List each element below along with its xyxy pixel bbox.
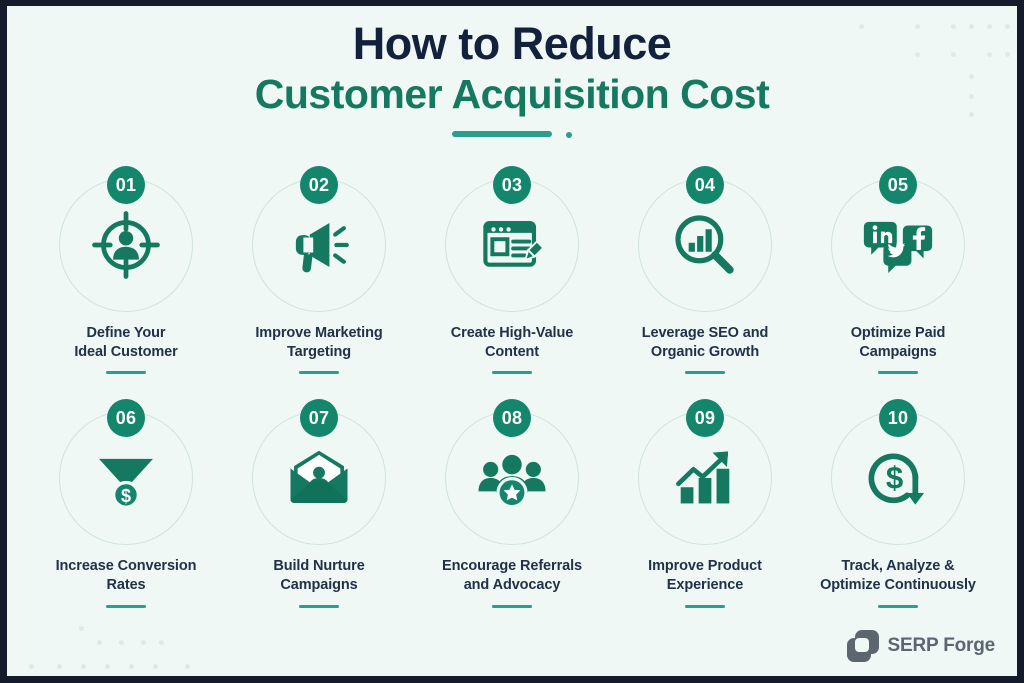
step-number-badge: 04	[686, 166, 724, 204]
step-icon-wrap: 08	[442, 399, 582, 547]
step-icon-wrap: $ 10	[828, 399, 968, 547]
step-underline	[492, 605, 532, 608]
poster-canvas: How to Reduce Customer Acquisition Cost	[7, 6, 1017, 676]
steps-grid: 01 Define Your Ideal Customer	[33, 166, 991, 608]
social-bubbles-icon	[859, 206, 937, 284]
step-card-01[interactable]: 01 Define Your Ideal Customer	[33, 166, 219, 374]
megaphone-icon	[282, 208, 356, 282]
step-underline	[878, 371, 918, 374]
steps-row-1: 01 Define Your Ideal Customer	[33, 166, 991, 374]
step-label: Improve Marketing Targeting	[255, 324, 382, 362]
people-star-icon	[473, 439, 551, 517]
target-person-icon	[90, 209, 162, 281]
title-divider-dot	[566, 132, 572, 138]
growth-chart-arrow-icon	[668, 441, 742, 515]
step-icon-wrap: 03	[442, 166, 582, 314]
logo-square-cutout	[855, 638, 869, 652]
title-divider-bar	[452, 131, 552, 137]
step-icon-wrap: 05	[828, 166, 968, 314]
step-icon-wrap: 01	[56, 166, 196, 314]
magnifier-bar-chart-icon	[669, 209, 741, 281]
step-card-07[interactable]: 07 Build Nurture Campaigns	[226, 399, 412, 607]
browser-pencil-icon	[475, 208, 549, 282]
svg-text:$: $	[886, 461, 903, 496]
step-underline	[685, 371, 725, 374]
step-number-badge: 02	[300, 166, 338, 204]
step-icon-wrap: 09	[635, 399, 775, 547]
page-title-line-2: Customer Acquisition Cost	[7, 71, 1017, 119]
step-card-08[interactable]: 08 Encourage Referrals and Advocacy	[419, 399, 605, 607]
title-divider	[452, 131, 572, 138]
step-label: Optimize Paid Campaigns	[851, 324, 946, 362]
step-label: Encourage Referrals and Advocacy	[442, 557, 582, 595]
step-card-06[interactable]: $ 06 Increase Conversion Rates	[33, 399, 219, 607]
step-underline	[492, 371, 532, 374]
step-number-badge: 07	[300, 399, 338, 437]
step-underline	[106, 371, 146, 374]
step-card-10[interactable]: $ 10 Track, Analyze & Optimize Continuou…	[805, 399, 991, 607]
step-label: Build Nurture Campaigns	[273, 557, 364, 595]
funnel-dollar-icon: $	[90, 442, 162, 514]
step-underline	[299, 605, 339, 608]
step-underline	[878, 605, 918, 608]
step-card-05[interactable]: 05 Optimize Paid Campaigns	[805, 166, 991, 374]
step-label: Define Your Ideal Customer	[74, 324, 177, 362]
step-label: Increase Conversion Rates	[56, 557, 197, 595]
svg-text:$: $	[121, 486, 131, 506]
serp-forge-logo-icon	[847, 630, 879, 662]
dollar-refresh-down-icon: $	[861, 441, 935, 515]
poster-frame: How to Reduce Customer Acquisition Cost	[0, 0, 1024, 683]
step-underline	[685, 605, 725, 608]
step-icon-wrap: $ 06	[56, 399, 196, 547]
step-number-badge: 03	[493, 166, 531, 204]
decorative-dots-bottom-left	[19, 606, 189, 676]
poster-header: How to Reduce Customer Acquisition Cost	[7, 20, 1017, 138]
step-underline	[106, 605, 146, 608]
steps-row-2: $ 06 Increase Conversion Rates	[33, 399, 991, 607]
step-number-badge: 08	[493, 399, 531, 437]
step-card-04[interactable]: 04 Leverage SEO and Organic Growth	[612, 166, 798, 374]
step-label: Track, Analyze & Optimize Continuously	[820, 557, 976, 595]
step-number-badge: 05	[879, 166, 917, 204]
step-icon-wrap: 02	[249, 166, 389, 314]
brand-name: SERP Forge	[888, 635, 995, 657]
step-card-09[interactable]: 09 Improve Product Experience	[612, 399, 798, 607]
step-number-badge: 06	[107, 399, 145, 437]
step-underline	[299, 371, 339, 374]
page-title-line-1: How to Reduce	[7, 20, 1017, 69]
step-card-03[interactable]: 03 Create High-Value Content	[419, 166, 605, 374]
envelope-person-icon	[281, 440, 357, 516]
step-number-badge: 01	[107, 166, 145, 204]
step-icon-wrap: 07	[249, 399, 389, 547]
step-label: Leverage SEO and Organic Growth	[642, 324, 769, 362]
step-label: Create High-Value Content	[451, 324, 573, 362]
step-card-02[interactable]: 02 Improve Marketing Targeting	[226, 166, 412, 374]
step-number-badge: 10	[879, 399, 917, 437]
brand-logo[interactable]: SERP Forge	[847, 630, 995, 662]
step-label: Improve Product Experience	[648, 557, 762, 595]
step-number-badge: 09	[686, 399, 724, 437]
step-icon-wrap: 04	[635, 166, 775, 314]
